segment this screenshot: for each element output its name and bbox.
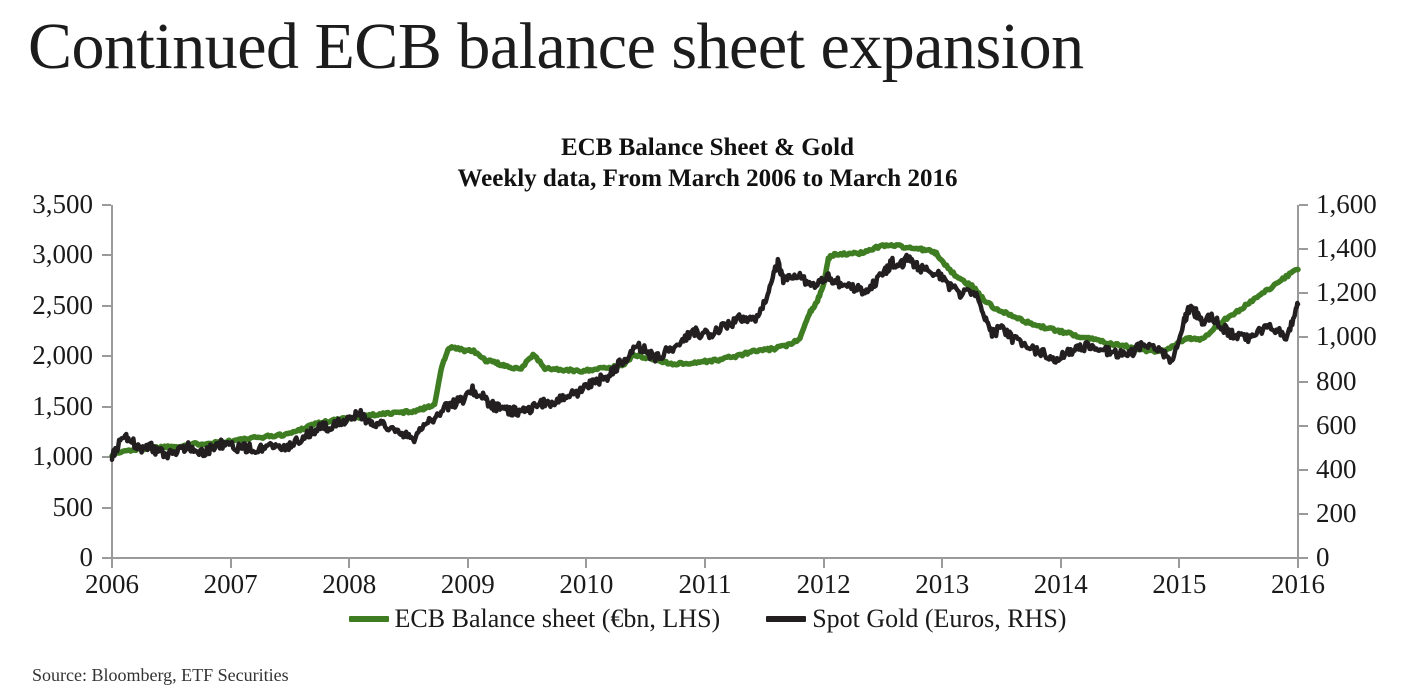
chart-title-line2: Weekly data, From March 2006 to March 20… bbox=[0, 163, 1415, 194]
x-axis-label: 2011 bbox=[679, 569, 732, 599]
legend-item-spot-gold[interactable]: Spot Gold (Euros, RHS) bbox=[766, 604, 1066, 634]
x-axis-label: 2010 bbox=[559, 569, 613, 599]
y-axis-right-tick bbox=[1299, 336, 1308, 338]
y-axis-left-label: 3,000 bbox=[32, 241, 93, 268]
series-line-spot-gold bbox=[112, 255, 1298, 460]
y-axis-left-label: 0 bbox=[80, 544, 94, 571]
y-axis-right-tick bbox=[1299, 513, 1308, 515]
x-axis-label: 2009 bbox=[441, 569, 495, 599]
y-axis-right-tick bbox=[1299, 292, 1308, 294]
legend-item-ecb-balance-sheet[interactable]: ECB Balance sheet (€bn, LHS) bbox=[349, 604, 721, 634]
x-axis-tick bbox=[941, 559, 943, 568]
x-axis-label: 2012 bbox=[797, 569, 851, 599]
x-axis-tick bbox=[585, 559, 587, 568]
y-axis-left-label: 500 bbox=[53, 494, 94, 521]
x-axis-tick bbox=[1297, 559, 1299, 568]
y-axis-left-tick bbox=[102, 355, 111, 357]
series-lines bbox=[112, 205, 1298, 558]
y-axis-left-label: 3,500 bbox=[32, 191, 93, 218]
x-axis-label: 2015 bbox=[1152, 569, 1206, 599]
legend-swatch-icon bbox=[766, 616, 806, 622]
y-axis-right-tick bbox=[1299, 204, 1308, 206]
y-axis-right-tick bbox=[1299, 425, 1308, 427]
legend-swatch-icon bbox=[349, 616, 389, 622]
x-axis-label: 2007 bbox=[204, 569, 258, 599]
x-axis-tick bbox=[111, 559, 113, 568]
x-axis-label: 2016 bbox=[1271, 569, 1325, 599]
slide-canvas: Continued ECB balance sheet expansion EC… bbox=[0, 0, 1415, 691]
y-axis-right-tick bbox=[1299, 381, 1308, 383]
y-axis-right-label: 1,000 bbox=[1316, 323, 1377, 350]
y-axis-left-tick bbox=[102, 254, 111, 256]
y-axis-right-tick bbox=[1299, 557, 1308, 559]
y-axis-right-tick bbox=[1299, 248, 1308, 250]
plot-area bbox=[112, 205, 1298, 558]
y-axis-right-label: 1,200 bbox=[1316, 279, 1377, 306]
x-axis-tick bbox=[1178, 559, 1180, 568]
y-axis-left-tick bbox=[102, 406, 111, 408]
chart-container: ECB Balance Sheet & Gold Weekly data, Fr… bbox=[0, 132, 1415, 652]
chart-title: ECB Balance Sheet & Gold Weekly data, Fr… bbox=[0, 132, 1415, 194]
chart-title-line1: ECB Balance Sheet & Gold bbox=[561, 134, 854, 161]
x-axis-tick bbox=[230, 559, 232, 568]
y-axis-left-label: 2,000 bbox=[32, 342, 93, 369]
y-axis-right-label: 600 bbox=[1316, 412, 1357, 439]
y-axis-right-label: 0 bbox=[1316, 544, 1330, 571]
x-axis-label: 2014 bbox=[1034, 569, 1088, 599]
y-axis-right-label: 1,600 bbox=[1316, 191, 1377, 218]
x-axis-tick bbox=[1060, 559, 1062, 568]
x-axis-tick bbox=[467, 559, 469, 568]
chart-legend: ECB Balance sheet (€bn, LHS)Spot Gold (E… bbox=[0, 604, 1415, 634]
y-axis-left-label: 2,500 bbox=[32, 292, 93, 319]
y-axis-right-label: 800 bbox=[1316, 368, 1357, 395]
legend-label: ECB Balance sheet (€bn, LHS) bbox=[395, 604, 721, 634]
x-axis-label: 2006 bbox=[85, 569, 139, 599]
x-axis-tick bbox=[348, 559, 350, 568]
legend-label: Spot Gold (Euros, RHS) bbox=[812, 604, 1066, 634]
y-axis-left-tick bbox=[102, 305, 111, 307]
x-axis-tick bbox=[823, 559, 825, 568]
source-note: Source: Bloomberg, ETF Securities bbox=[32, 664, 289, 686]
y-axis-right-label: 400 bbox=[1316, 456, 1357, 483]
y-axis-right-label: 1,400 bbox=[1316, 235, 1377, 262]
y-axis-left-tick bbox=[102, 204, 111, 206]
page-title: Continued ECB balance sheet expansion bbox=[28, 2, 1388, 92]
y-axis-left-label: 1,500 bbox=[32, 393, 93, 420]
y-axis-left-tick bbox=[102, 507, 111, 509]
y-axis-left-tick bbox=[102, 557, 111, 559]
x-axis-tick bbox=[704, 559, 706, 568]
y-axis-right-tick bbox=[1299, 469, 1308, 471]
y-axis-left-label: 1,000 bbox=[32, 443, 93, 470]
y-axis-right-label: 200 bbox=[1316, 500, 1357, 527]
x-axis-label: 2008 bbox=[322, 569, 376, 599]
x-axis-label: 2013 bbox=[915, 569, 969, 599]
